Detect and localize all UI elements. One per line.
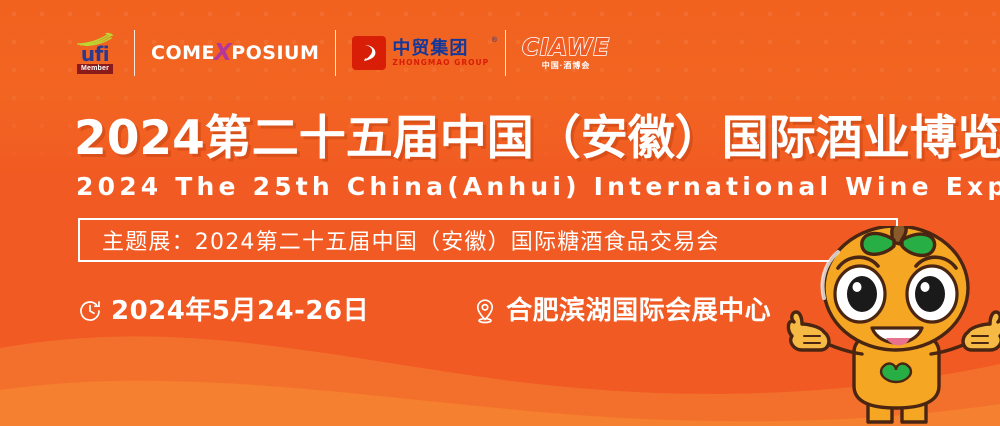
orange-mascot xyxy=(776,226,1000,426)
comexposium-x-accent: X xyxy=(214,40,232,66)
event-venue: 合肥滨湖国际会展中心 xyxy=(473,296,771,326)
event-meta-row: 2024年5月24-26日 合肥滨湖国际会展中心 xyxy=(78,296,771,326)
zhongmao-trademark: ® xyxy=(492,37,497,44)
event-venue-text: 合肥滨湖国际会展中心 xyxy=(506,296,771,326)
ufi-wordmark: ufi xyxy=(81,45,109,63)
zhongmao-cn-name: 中贸集团 xyxy=(392,39,489,58)
page-title: 2024第二十五届中国（安徽）国际酒业博览会 xyxy=(74,112,1000,166)
ufi-logo[interactable]: ufi Member xyxy=(72,32,118,74)
ciawe-logo[interactable]: CIAWE 中国·酒博会 xyxy=(522,36,610,71)
ciawe-subtitle: 中国·酒博会 xyxy=(542,61,591,71)
logo-divider-3 xyxy=(505,30,506,76)
event-date: 2024年5月24-26日 xyxy=(78,296,369,326)
logo-divider-1 xyxy=(134,30,135,76)
zhongmao-emblem-icon xyxy=(352,36,386,70)
logo-bar: ufi Member COME X POSIUM 中贸集团 ZHONGMAO G… xyxy=(72,22,610,84)
zhongmao-en-name: ZHONGMAO GROUP xyxy=(392,58,489,67)
theme-exhibition-box: 主题展：2024第二十五届中国（安徽）国际糖酒食品交易会 xyxy=(78,218,898,262)
zhongmao-group-logo[interactable]: 中贸集团 ZHONGMAO GROUP ® xyxy=(352,36,489,70)
event-banner: ufi Member COME X POSIUM 中贸集团 ZHONGMAO G… xyxy=(0,0,1000,426)
location-pin-icon xyxy=(473,298,497,324)
page-subtitle-en: 2024 The 25th China(Anhui) International… xyxy=(76,172,1000,202)
event-date-text: 2024年5月24-26日 xyxy=(111,296,369,326)
comexposium-part2: POSIUM xyxy=(231,42,319,64)
ufi-member-badge: Member xyxy=(77,64,113,74)
comexposium-logo[interactable]: COME X POSIUM xyxy=(151,40,319,66)
clock-icon xyxy=(78,299,102,323)
ciawe-wordmark: CIAWE xyxy=(522,36,610,60)
theme-exhibition-text: 主题展：2024第二十五届中国（安徽）国际糖酒食品交易会 xyxy=(80,224,720,256)
logo-divider-2 xyxy=(335,30,336,76)
comexposium-part1: COME xyxy=(151,42,215,64)
